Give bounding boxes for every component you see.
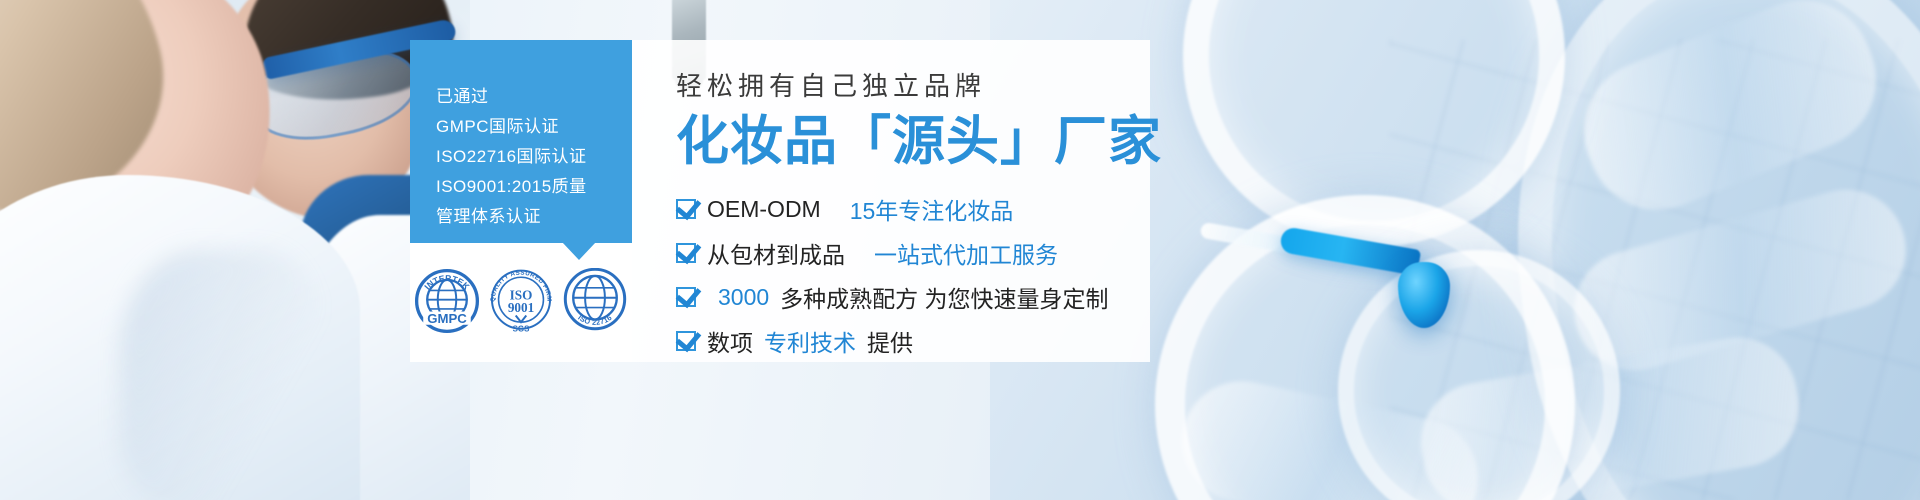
bullet-dark-1: OEM-ODM: [707, 196, 821, 223]
certification-line-4: ISO9001:2015质量: [436, 172, 632, 202]
svg-text:SGS: SGS: [513, 324, 530, 333]
headline-text: 化妆品「源头」厂家: [676, 111, 1150, 174]
svg-text:9001: 9001: [508, 300, 534, 315]
check-icon: [676, 287, 696, 307]
list-item: 3000 多种成熟配方 为您快速量身定制: [676, 275, 1150, 319]
bullet-dark-2: 多种成熟配方 为您快速量身定制: [780, 280, 1108, 314]
list-item: 数项 专利技术 提供: [676, 319, 1150, 363]
promo-banner: 已通过 GMPC国际认证 ISO22716国际认证 ISO9001:2015质量…: [0, 0, 1920, 500]
certification-blue-box: 已通过 GMPC国际认证 ISO22716国际认证 ISO9001:2015质量…: [410, 40, 632, 243]
bullet-dark-1: 从包材到成品: [707, 236, 845, 270]
certification-line-2: GMPC国际认证: [436, 112, 632, 142]
bullet-dark-1: 数项: [707, 324, 753, 358]
svg-text:GMPC: GMPC: [427, 310, 467, 325]
bullet-blue-1: 专利技术: [764, 324, 856, 358]
bullet-blue-1: 一站式代加工服务: [874, 236, 1058, 270]
feature-list: OEM-ODM 15年专注化妆品 从包材到成品 一站式代加工服务 3000 多种…: [676, 187, 1150, 363]
iso22716-badge: ISO 22716: [562, 268, 628, 334]
list-item: OEM-ODM 15年专注化妆品: [676, 187, 1150, 231]
callout-arrow: [562, 242, 596, 260]
gmpc-badge: INTERTEK GMPC: [414, 268, 480, 334]
iso9001-badge: QUALITY ASSURED FIRM ISO 9001 SGS: [488, 268, 554, 334]
kicker-text: 轻松拥有自己独立品牌: [676, 70, 1150, 103]
bullet-dark-2: 提供: [867, 324, 913, 358]
certification-line-5: 管理体系认证: [436, 202, 632, 232]
certification-line-1: 已通过: [436, 82, 632, 112]
check-icon: [676, 243, 696, 263]
bullet-blue-1: 3000: [718, 284, 769, 311]
check-icon: [676, 199, 696, 219]
bullet-blue-1: 15年专注化妆品: [850, 192, 1014, 226]
check-icon: [676, 331, 696, 351]
certification-line-3: ISO22716国际认证: [436, 142, 632, 172]
certification-card: 已通过 GMPC国际认证 ISO22716国际认证 ISO9001:2015质量…: [410, 40, 632, 362]
certification-logo-row: INTERTEK GMPC QUALITY ASSURED FIRM ISO 9…: [410, 243, 632, 362]
list-item: 从包材到成品 一站式代加工服务: [676, 231, 1150, 275]
message-panel: 轻松拥有自己独立品牌 化妆品「源头」厂家 OEM-ODM 15年专注化妆品 从包…: [632, 40, 1150, 362]
labcoat-shadow: [120, 250, 320, 500]
scientists-photo: [0, 0, 470, 500]
